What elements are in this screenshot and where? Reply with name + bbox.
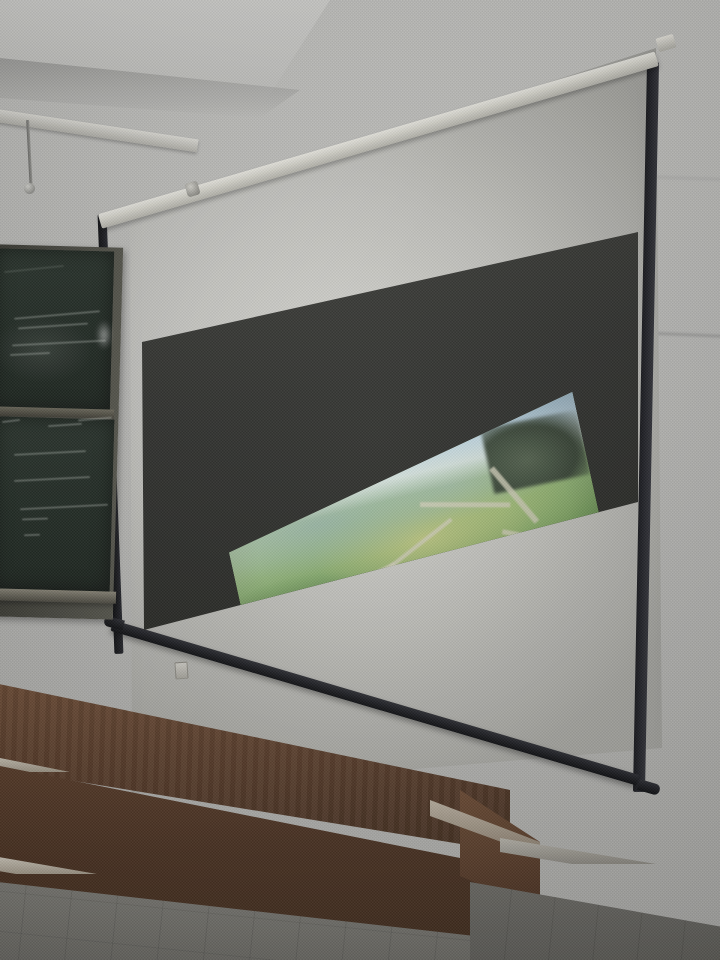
classroom-photo: 在风云变幻 天翻地覆的近一个世纪的岁月里 生命线 开始 Windows Medi… <box>0 0 720 960</box>
wall-outlet[interactable] <box>174 662 188 680</box>
chalkboard-glare <box>96 320 112 350</box>
chalkboard-dust <box>0 288 116 411</box>
